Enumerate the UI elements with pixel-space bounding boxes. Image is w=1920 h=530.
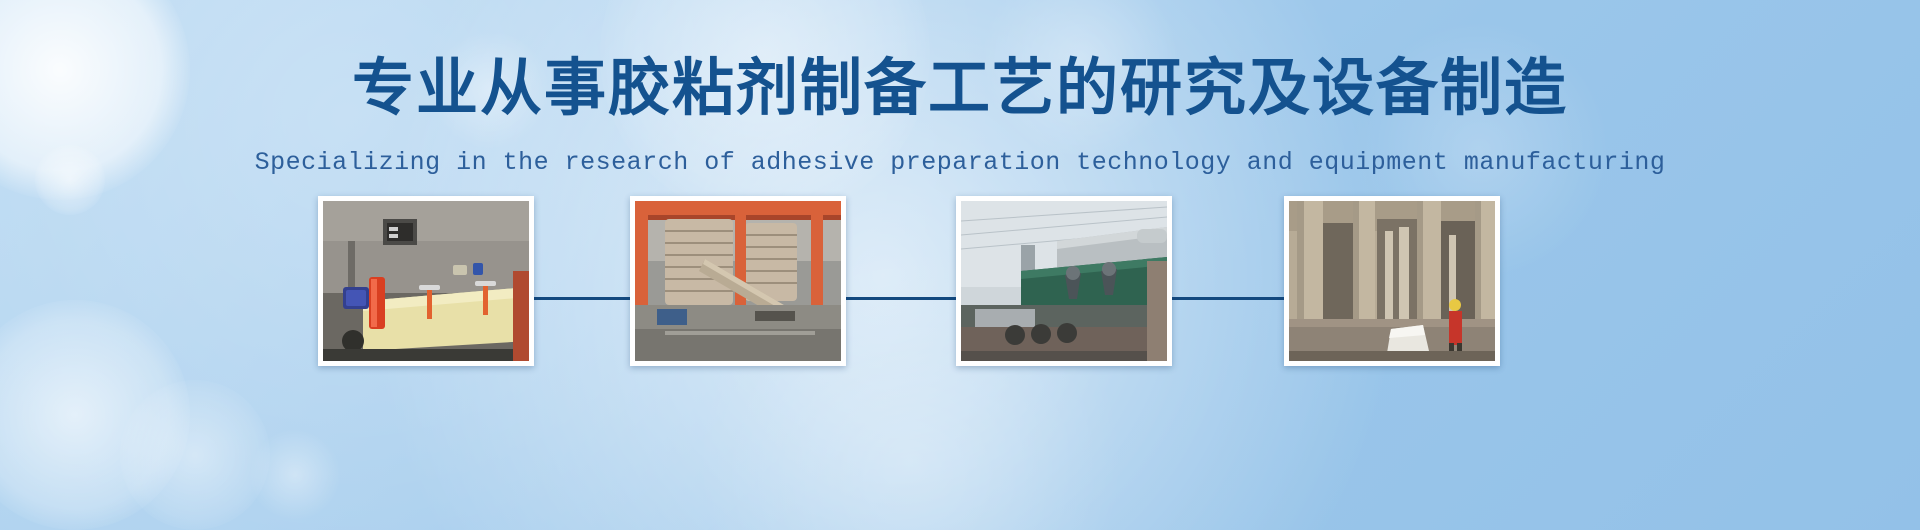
connector-line-1 — [534, 297, 630, 300]
process-card[interactable]: 拌胶机 — [318, 196, 534, 366]
connector-line-2 — [846, 297, 956, 300]
elevator-feeder-photo[interactable] — [1284, 196, 1500, 366]
process-card[interactable]: 提升机上料 — [1284, 196, 1500, 366]
process-card-row: 拌胶机 — [0, 196, 1920, 396]
wood-chip-washer-photo[interactable] — [956, 196, 1172, 366]
screw-conveyor-photo[interactable] — [630, 196, 846, 366]
banner-subtitle: Specializing in the research of adhesive… — [0, 150, 1920, 175]
process-card[interactable]: 螺旋上料 — [630, 196, 846, 366]
bokeh-circle — [250, 430, 340, 520]
glue-mixer-photo[interactable] — [318, 196, 534, 366]
process-card[interactable]: 木片水洗机 — [956, 196, 1172, 366]
connector-line-3 — [1172, 297, 1284, 300]
promo-banner: 专业从事胶粘剂制备工艺的研究及设备制造 Specializing in the … — [0, 0, 1920, 530]
bokeh-circle — [120, 380, 270, 530]
banner-headline: 专业从事胶粘剂制备工艺的研究及设备制造 — [0, 58, 1920, 120]
